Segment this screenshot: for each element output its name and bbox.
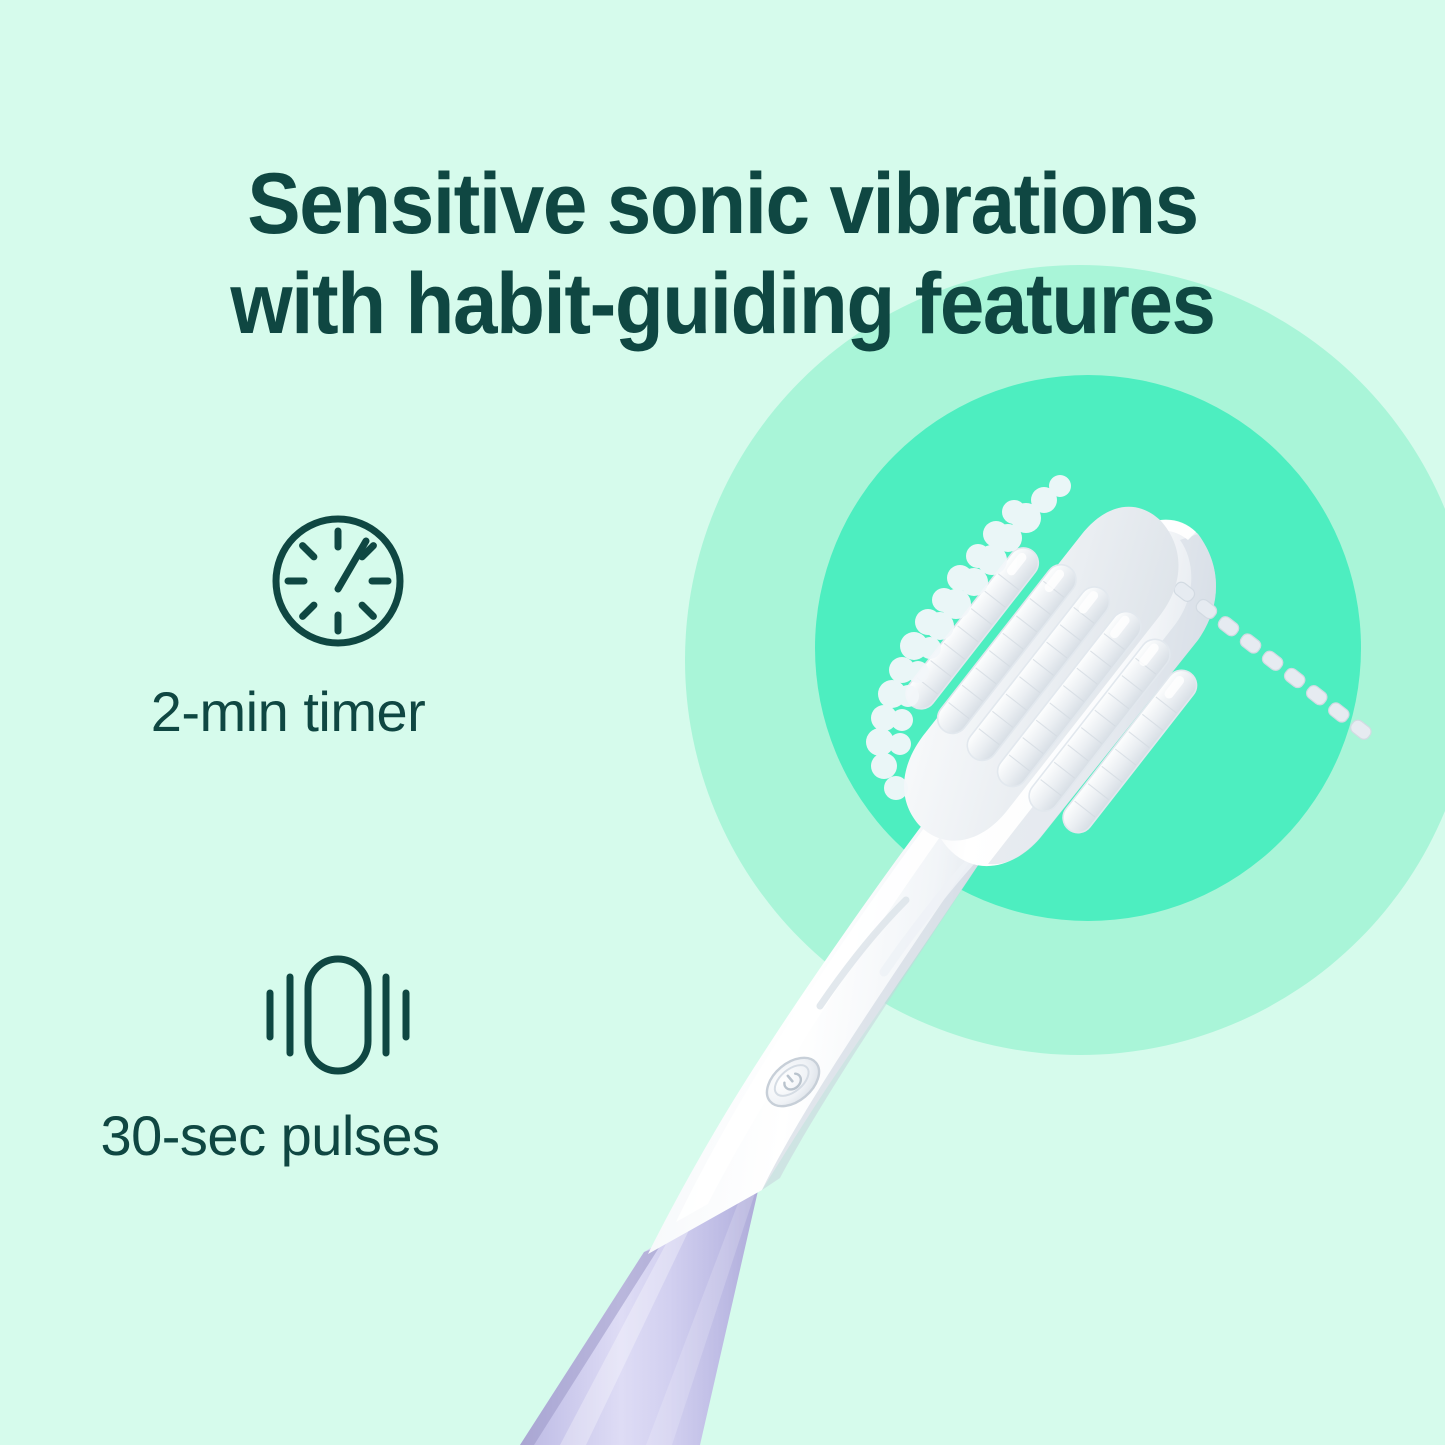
inner-accent-circle bbox=[815, 375, 1361, 921]
product-feature-graphic: Sensitive sonic vibrations with habit-gu… bbox=[0, 0, 1445, 1445]
clock-icon bbox=[262, 505, 414, 657]
headline-line-2: with habit-guiding features bbox=[51, 254, 1395, 355]
page-title: Sensitive sonic vibrations with habit-gu… bbox=[51, 154, 1395, 355]
vibration-pulse-icon bbox=[262, 949, 414, 1081]
feature-list: 2-min timer 30-sec pulses bbox=[0, 505, 600, 1168]
feature-label-timer: 2-min timer bbox=[0, 679, 588, 744]
headline-line-1: Sensitive sonic vibrations bbox=[247, 156, 1197, 252]
feature-item-timer: 2-min timer bbox=[0, 505, 600, 744]
feature-label-pulses: 30-sec pulses bbox=[0, 1103, 570, 1168]
toothbrush-handle bbox=[520, 1182, 760, 1445]
feature-item-pulses: 30-sec pulses bbox=[0, 949, 600, 1168]
power-button bbox=[758, 1048, 828, 1116]
